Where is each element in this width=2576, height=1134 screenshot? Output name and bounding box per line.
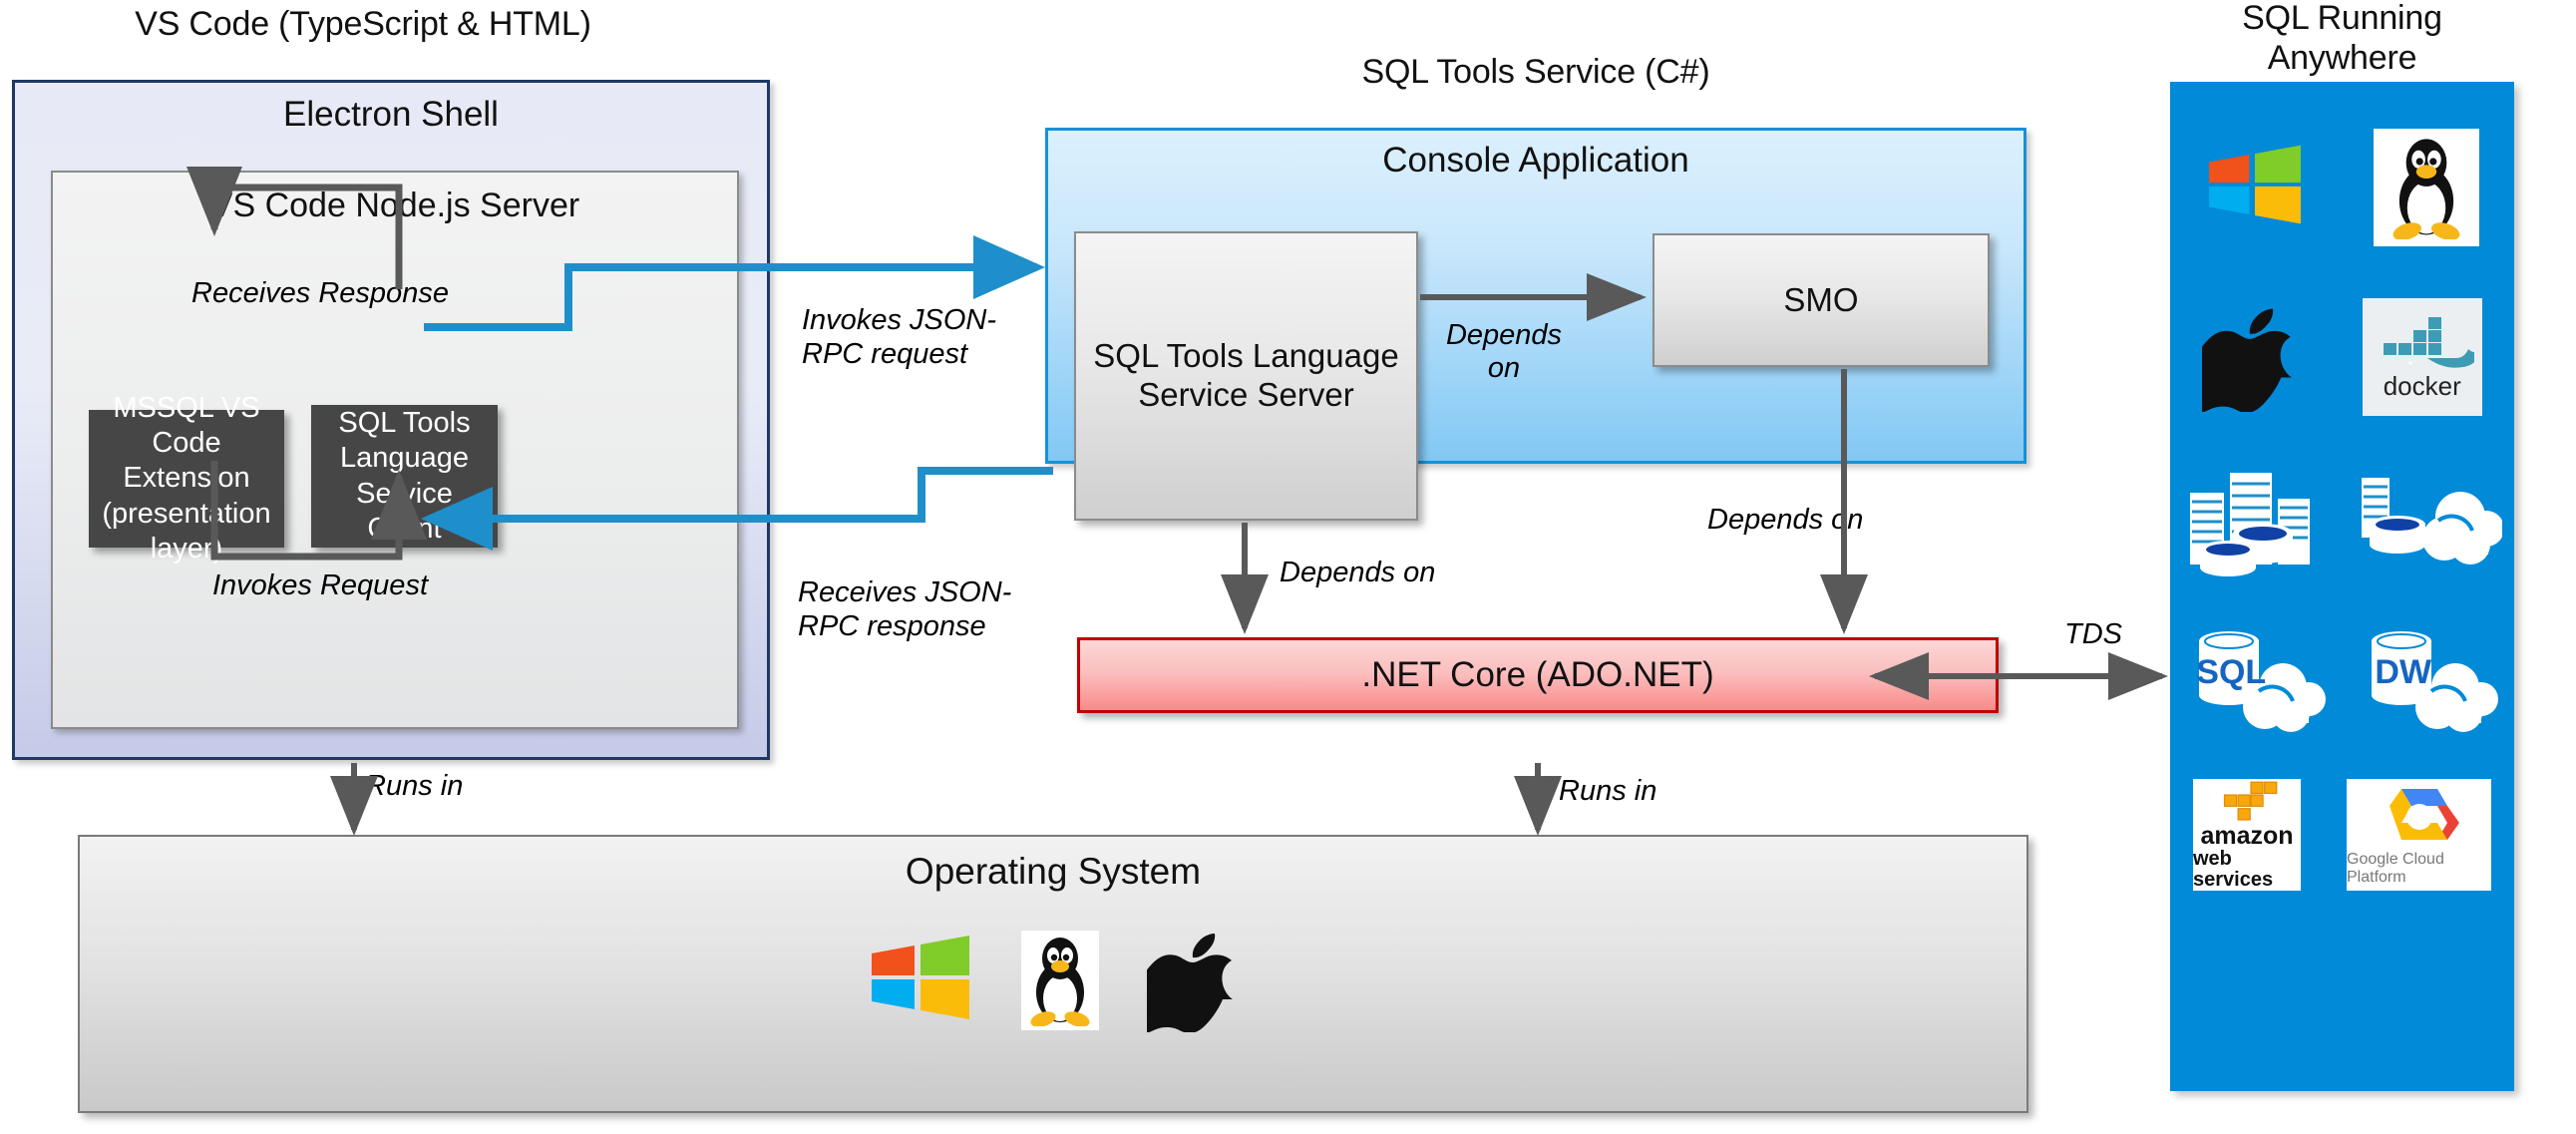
console-application-title: Console Application [1048,141,2024,181]
google-cloud-platform-logo: Google Cloud Platform [2347,779,2491,891]
invokes-request-label: Invokes Request [171,569,470,602]
apple-logo [1147,923,1239,1037]
private-cloud-database-icon [2353,459,2502,581]
docker-logo: docker [2363,298,2482,416]
sql-tools-language-service-server-box[interactable]: SQL Tools Language Service Server [1074,231,1418,521]
depends-on-dotnet-from-smo-label: Depends on [1707,504,1927,537]
mssql-vs-code-extension-box[interactable]: MSSQL VS Code Extension (presentation la… [89,410,284,548]
smo-box[interactable]: SMO [1653,233,1990,367]
tds-label: TDS [2064,618,2184,651]
caption-sql-tools-service: SQL Tools Service (C#) [1045,52,2026,92]
caption-sql-running-anywhere-line2: Anywhere [2170,38,2514,78]
sql-anywhere-logo-row: amazon web services Google Cloud Platfor… [2170,775,2514,895]
caption-vs-code: VS Code (TypeScript & HTML) [14,4,712,44]
aws-logo-line1: amazon [2200,824,2293,849]
caption-sql-tools-service-text: SQL Tools Service (C#) [1362,53,1710,91]
azure-sql-dw-label: DW [2368,653,2439,692]
docker-logo-text: docker [2384,371,2461,402]
caption-sql-running-anywhere: SQL Running Anywhere [2170,0,2514,78]
electron-shell-title: Electron Shell [15,95,767,135]
invokes-json-rpc-request-text: Invokes JSON-RPC request [802,304,996,369]
linux-tux-logo [1021,931,1099,1030]
receives-response-label: Receives Response [171,277,470,310]
azure-sql-database-icon: SQL [2181,615,2331,750]
vs-code-node-server-panel: VS Code Node.js Server MSSQL VS Code Ext… [51,171,739,729]
receives-json-rpc-response-text: Receives JSON-RPC response [798,576,1011,641]
sql-running-anywhere-panel: docker [2170,82,2514,1091]
invokes-json-rpc-request-label: Invokes JSON-RPC request [802,271,1031,371]
depends-on-dotnet-from-server-label: Depends on [1280,557,1499,589]
electron-shell-panel: Electron Shell VS Code Node.js Server MS… [12,80,770,760]
receives-json-rpc-response-label: Receives JSON-RPC response [798,544,1027,643]
operating-system-title: Operating System [80,851,2026,893]
gcp-logo-text: Google Cloud Platform [2347,851,2491,887]
amazon-web-services-logo: amazon web services [2193,779,2301,891]
sql-anywhere-logo-row: docker [2170,282,2514,432]
windows-logo [2205,140,2305,234]
azure-sql-data-warehouse-icon: DW [2354,615,2503,750]
aws-logo-line2: web services [2193,849,2301,891]
runs-in-left-label: Runs in [365,770,545,803]
dotnet-core-ado-net-box[interactable]: .NET Core (ADO.NET) [1077,637,1999,713]
azure-sql-database-label: SQL [2195,653,2267,692]
caption-vs-code-text: VS Code (TypeScript & HTML) [135,5,591,43]
sql-tools-language-service-client-box[interactable]: SQL Tools Language Service Client [311,405,498,548]
on-premises-datacenter-icon [2183,458,2328,582]
apple-logo [2202,297,2298,417]
linux-tux-logo [2374,129,2479,246]
sql-anywhere-logo-row: SQL DW [2170,607,2514,757]
depends-on-smo-label: Depends on [1439,319,1569,386]
caption-sql-running-anywhere-line1: SQL Running [2170,0,2514,38]
windows-logo [868,930,973,1030]
os-logo-row [868,923,1239,1037]
sql-anywhere-logo-row [2170,110,2514,264]
sql-anywhere-logo-row [2170,450,2514,589]
vs-code-node-server-title: VS Code Node.js Server [53,187,737,225]
runs-in-middle-label: Runs in [1559,775,1738,808]
operating-system-panel: Operating System [78,835,2028,1113]
